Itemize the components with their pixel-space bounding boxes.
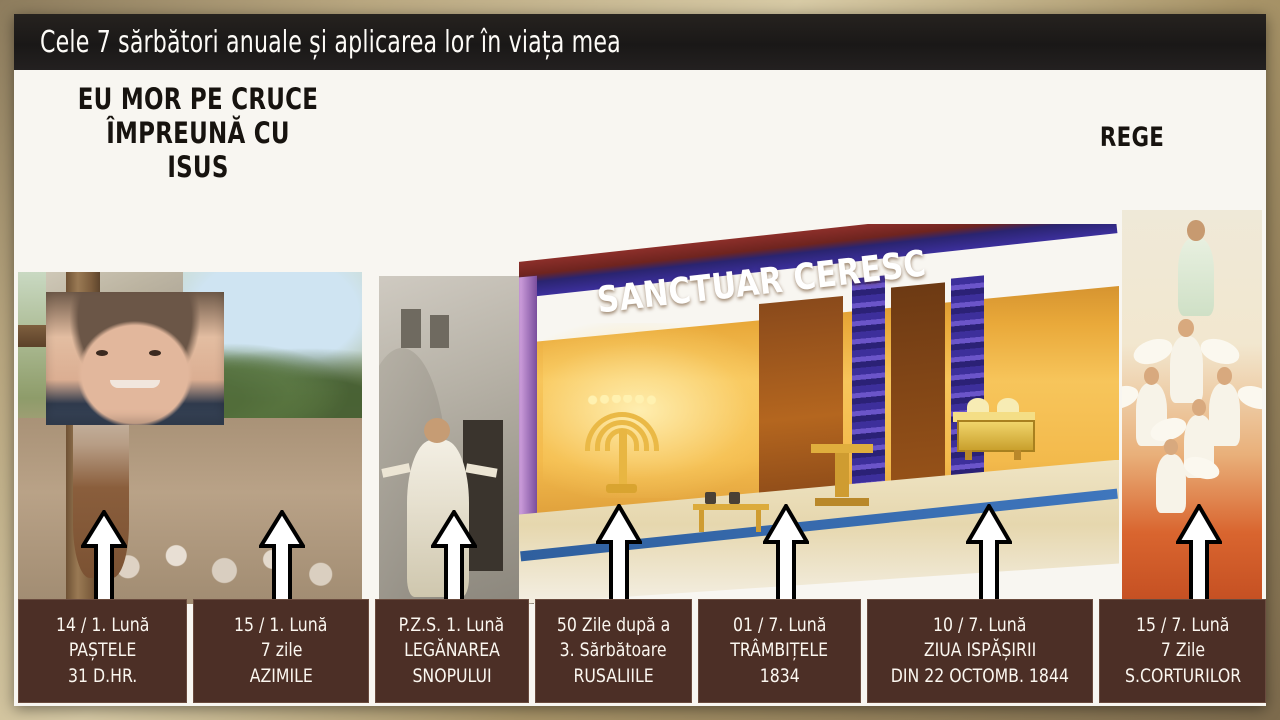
feast-line-3: RUSALIILE [573, 665, 653, 688]
feast-line-3: S.CORTURILOR [1125, 665, 1241, 688]
feast-line-3: DIN 22 OCTOMB. 1844 [891, 665, 1069, 688]
heading-left: EU MOR PE CRUCE ÎMPREUNĂ CU ISUS [48, 82, 347, 185]
angel-wing-right [1181, 453, 1222, 484]
feast-box-trambitele[interactable]: 01 / 7. Lună TRÂMBIȚELE 1834 [698, 599, 861, 703]
superimposed-face [46, 292, 225, 425]
angel-wing-left [1122, 382, 1141, 414]
feast-box-azimile[interactable]: 15 / 1. Lună 7 zile AZIMILE [193, 599, 368, 703]
showbread-leg-2 [756, 510, 761, 532]
altar-top [811, 444, 873, 453]
feast-line-2: 3. Sărbătoare [560, 639, 667, 662]
ark-leg-left [965, 450, 972, 460]
christ-head [1187, 220, 1204, 240]
showbread-leg-1 [699, 510, 704, 532]
christ-figure [1178, 238, 1214, 317]
angel-1 [1170, 336, 1204, 403]
feast-box-rusaliile[interactable]: 50 Zile după a 3. Sărbătoare RUSALIILE [535, 599, 693, 703]
heading-left-line-1: EU MOR PE CRUCE [48, 82, 347, 116]
feast-line-1: 10 / 7. Lună [934, 614, 1027, 637]
angel-head [1178, 319, 1194, 338]
face-eye-left [96, 350, 108, 356]
feast-line-1: 50 Zile după a [557, 614, 670, 637]
tomb-niche-1 [401, 309, 421, 348]
sanctuary-glow [543, 323, 783, 498]
menorah-icon [585, 395, 659, 487]
feast-line-1: 15 / 7. Lună [1136, 614, 1229, 637]
tomb-niche-2 [430, 315, 449, 348]
crucifixion-photo [18, 272, 362, 604]
face-eye-right [149, 350, 161, 356]
angel-wing-left [1130, 334, 1175, 368]
angel-wing-right [1197, 334, 1242, 368]
menorah-flames [587, 395, 657, 405]
altar-column [835, 453, 849, 497]
table-of-showbread [693, 498, 769, 532]
ark-chest [957, 420, 1035, 452]
feast-line-2: TRÂMBIȚELE [731, 639, 829, 662]
feast-line-2: LEGĂNAREA [404, 639, 500, 662]
angel-head [1164, 439, 1179, 456]
angel-head [1192, 399, 1207, 417]
menorah-stem [619, 429, 627, 487]
feast-box-corturilor[interactable]: 15 / 7. Lună 7 Zile S.CORTURILOR [1099, 599, 1266, 703]
feast-box-pastele[interactable]: 14 / 1. Lună PAȘTELE 31 D.HR. [18, 599, 187, 703]
angel-wing-right [1234, 382, 1262, 414]
heading-left-line-2: ÎMPREUNĂ CU [48, 116, 347, 150]
angel-head [1144, 367, 1159, 385]
figure-head [424, 418, 450, 443]
feast-box-ispasirii[interactable]: 10 / 7. Lună ZIUA ISPĂȘIRII DIN 22 OCTOM… [867, 599, 1094, 703]
heading-left-line-3: ISUS [48, 150, 347, 184]
slide-canvas: Cele 7 sărbători anuale și aplicarea lor… [14, 14, 1266, 706]
feast-line-1: 14 / 1. Lună [56, 614, 149, 637]
feast-label-row: 14 / 1. Lună PAȘTELE 31 D.HR. 15 / 1. Lu… [18, 599, 1266, 703]
showbread-vessel-1 [705, 492, 716, 504]
ark-leg-right [1014, 450, 1021, 460]
slide-frame: Cele 7 sărbători anuale și aplicarea lor… [0, 0, 1280, 720]
face-smile [110, 380, 160, 388]
feast-line-3: 31 D.HR. [68, 665, 137, 688]
feast-line-3: 1834 [760, 665, 800, 688]
feast-line-1: 01 / 7. Lună [733, 614, 826, 637]
entrance-curtain [519, 276, 537, 529]
angel-head [1217, 367, 1232, 385]
slide-title-bar: Cele 7 sărbători anuale și aplicarea lor… [14, 14, 1266, 70]
feast-line-2: 7 zile [260, 639, 302, 662]
heading-right: REGE [1035, 122, 1229, 154]
menorah-base [606, 484, 637, 493]
feast-line-3: SNOPULUI [412, 665, 491, 688]
feast-line-2: 7 Zile [1161, 639, 1205, 662]
feast-line-1: P.Z.S. 1. Lună [399, 614, 505, 637]
feast-line-1: 15 / 1. Lună [235, 614, 328, 637]
feast-line-2: PAȘTELE [69, 639, 136, 662]
feast-line-2: ZIUA ISPĂȘIRII [924, 639, 1036, 662]
ark-of-covenant-icon [957, 406, 1031, 460]
feast-line-3: AZIMILE [250, 665, 313, 688]
altar-base [815, 498, 869, 506]
showbread-vessel-2 [729, 492, 740, 504]
feast-box-snopului[interactable]: P.Z.S. 1. Lună LEGĂNAREA SNOPULUI [375, 599, 529, 703]
altar-of-incense [819, 444, 865, 506]
page-title: Cele 7 sărbători anuale și aplicarea lor… [40, 25, 621, 60]
